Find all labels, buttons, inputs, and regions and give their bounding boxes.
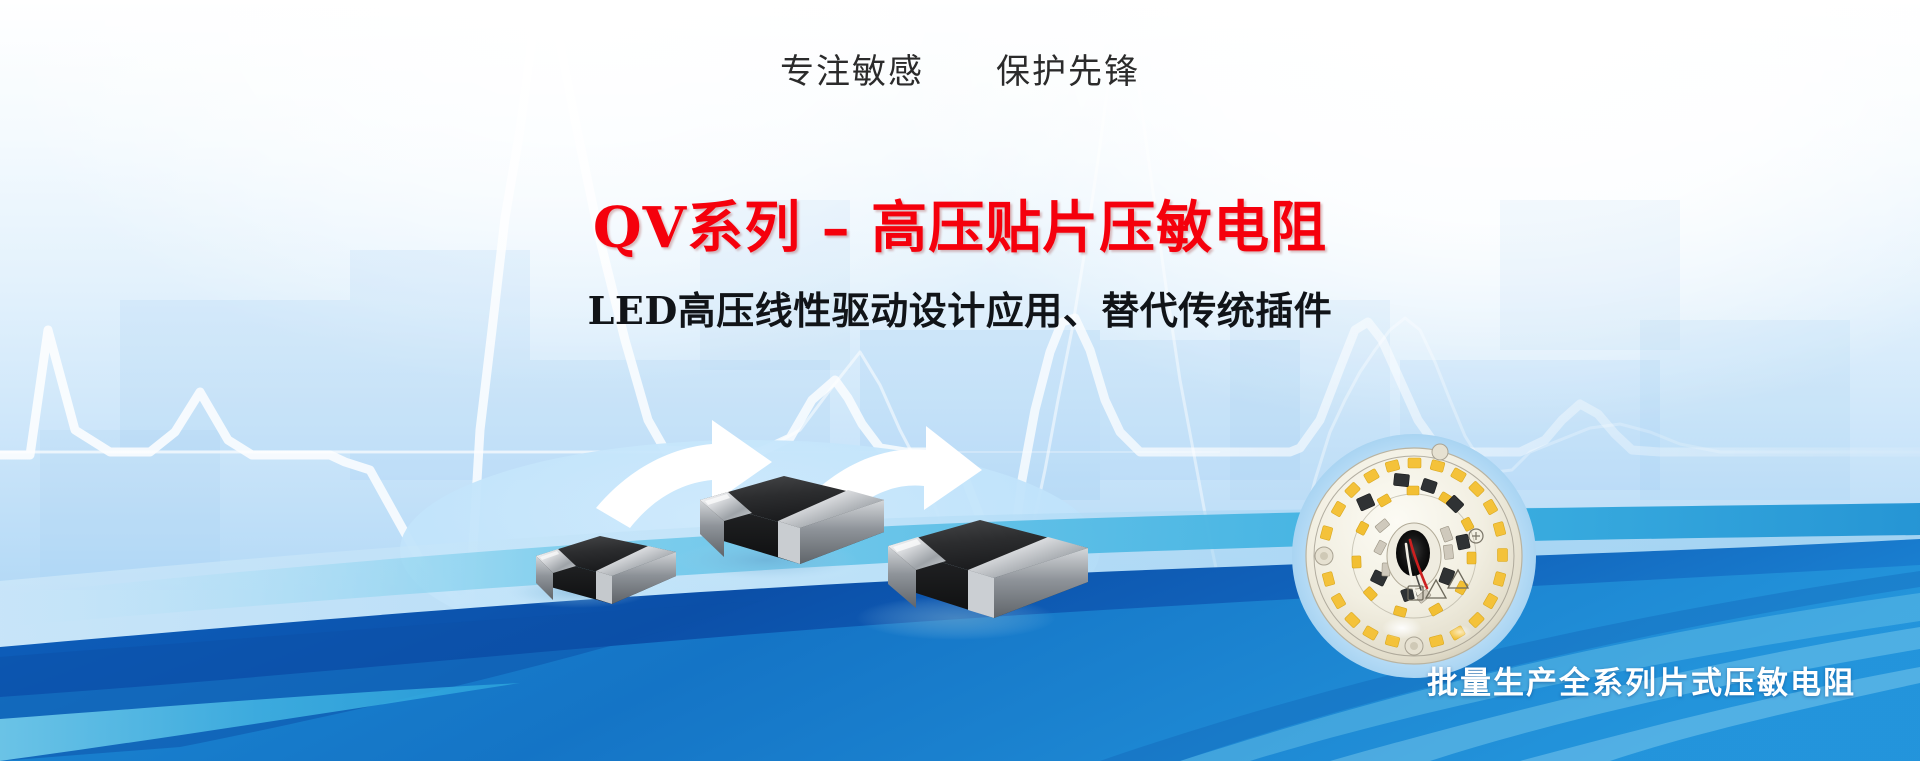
page-subtitle: LED高压线性驱动设计应用、替代传统插件 [0,288,1920,334]
footer-caption: 批量生产全系列片式压敏电阻 [1427,658,1856,703]
circular-led-pcb-module [1290,432,1538,680]
page-title: QV系列 – 高压贴片压敏电阻 [0,196,1920,260]
product-banner: 专注敏感 保护先锋 QV系列 – 高压贴片压敏电阻 LED高压线性驱动设计应用、… [0,0,1920,761]
brand-tagline: 专注敏感 保护先锋 [0,52,1920,93]
decorative-blue-waves [0,461,1920,761]
